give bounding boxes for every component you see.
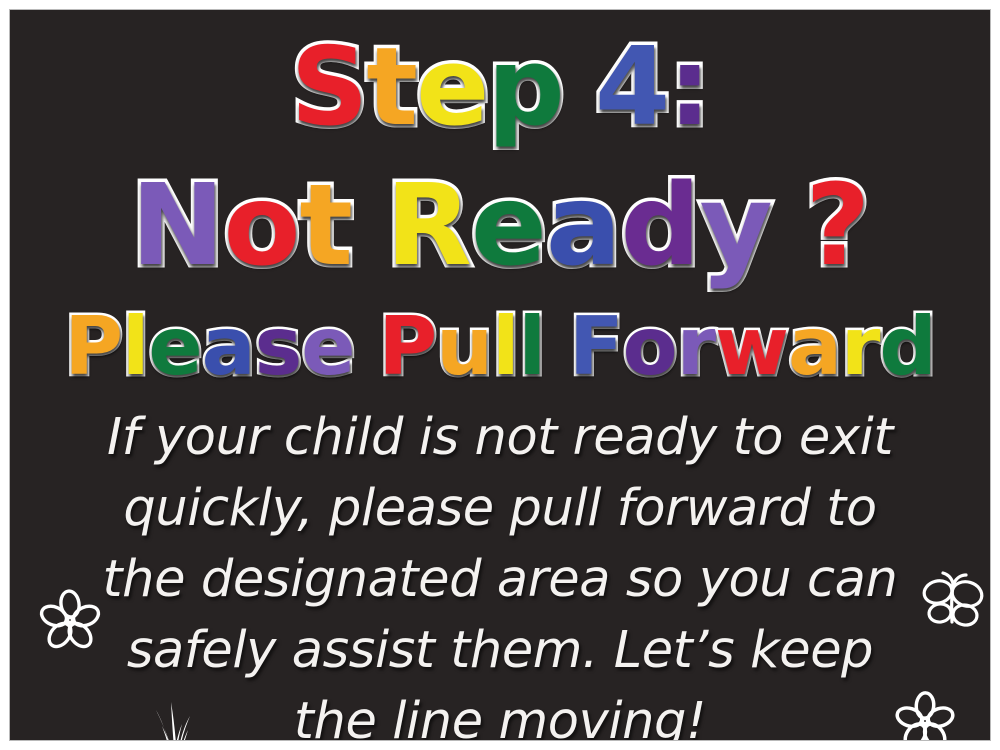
headline-letter: y [700, 170, 772, 282]
headline-letter: ? [805, 170, 869, 282]
headline-letter: e [148, 307, 201, 387]
headline-letter: t [366, 34, 416, 142]
headline-line-step: Step 4: [10, 34, 990, 142]
sign-poster: Step 4: Not Ready ? Please Pull Forward … [0, 0, 1000, 750]
headline-letter: l [519, 307, 545, 387]
headline-letter: r [841, 307, 879, 387]
headline-letter: w [715, 307, 788, 387]
headline-line-please-pull-forward: Please Pull Forward [10, 307, 990, 387]
headline-letter: a [202, 307, 255, 387]
headline-letter: d [879, 307, 935, 387]
butterfly-icon [918, 570, 988, 640]
headline-letter: N [131, 170, 224, 282]
body-line: If your child is not ready to exit [60, 402, 940, 473]
headline-space [355, 307, 379, 387]
body-paragraph: If your child is not ready to exitquickl… [60, 402, 940, 741]
headline-letter: F [569, 307, 623, 387]
headline-letter: a [788, 307, 841, 387]
headline-space [563, 34, 595, 142]
body-line: the designated area so you can [60, 544, 940, 615]
grass-icon [138, 698, 210, 741]
headline-letter: l [492, 307, 518, 387]
headline-letter: e [471, 170, 546, 282]
headline-letter: o [623, 307, 677, 387]
headline-space [352, 170, 386, 282]
headline-letter: 4 [595, 34, 668, 142]
headline-letter: : [668, 34, 709, 142]
headline-letter: P [64, 307, 122, 387]
headline-space [772, 170, 806, 282]
headline-letter: d [620, 170, 699, 282]
headline-letter: r [677, 307, 715, 387]
flower-icon [38, 588, 102, 656]
flower-icon [894, 690, 956, 741]
headline-letter: u [436, 307, 492, 387]
headline-letter: l [122, 307, 148, 387]
headline-letter: e [416, 34, 487, 142]
headline-letter: t [300, 170, 353, 282]
body-line: safely assist them. Let’s keep [60, 615, 940, 686]
headline-letter: R [386, 170, 471, 282]
headline-line-not-ready: Not Ready ? [10, 170, 990, 282]
headline-letter: P [379, 307, 437, 387]
headline-letter: p [487, 34, 562, 142]
headline-letter: o [224, 170, 300, 282]
sign-inner-panel: Step 4: Not Ready ? Please Pull Forward … [9, 9, 991, 741]
headline-letter: e [301, 307, 354, 387]
headline-letter: a [546, 170, 621, 282]
headline-letter: S [291, 34, 367, 142]
headline-letter: s [255, 307, 302, 387]
body-line: quickly, please pull forward to [60, 473, 940, 544]
headline-space [545, 307, 569, 387]
